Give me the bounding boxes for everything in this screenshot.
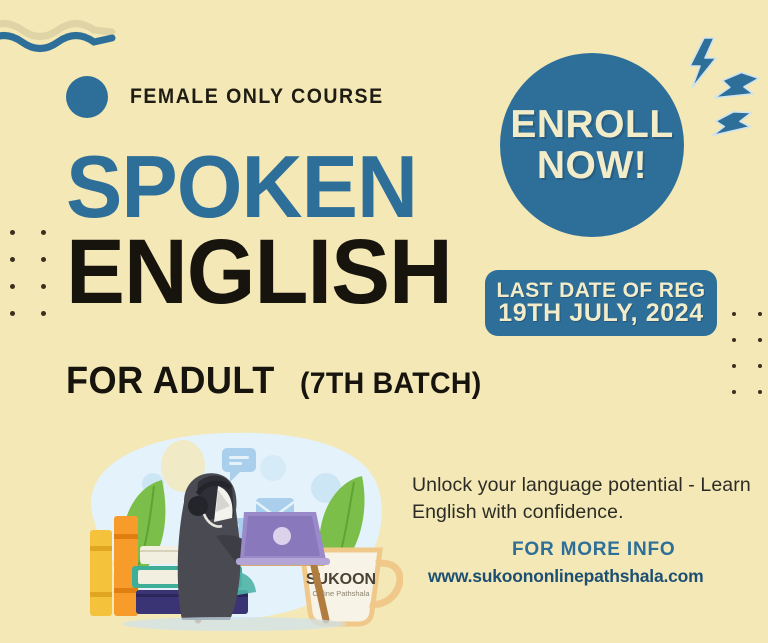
grid-dot — [758, 312, 762, 316]
grid-dot — [10, 311, 15, 316]
grid-dot — [732, 390, 736, 394]
grid-dot — [758, 390, 762, 394]
grid-dot — [41, 284, 46, 289]
more-info-label: FOR MORE INFO — [512, 539, 675, 561]
enroll-line-2: NOW! — [537, 146, 647, 185]
course-eyebrow: FEMALE ONLY COURSE — [66, 76, 403, 118]
grid-dot — [758, 364, 762, 368]
grid-dot — [732, 312, 736, 316]
grid-dot — [41, 257, 46, 262]
wave-decoration — [0, 16, 134, 62]
title-batch: (7TH BATCH) — [300, 367, 482, 401]
grid-dot — [41, 311, 46, 316]
standing-books — [90, 516, 138, 616]
grid-dot — [10, 230, 15, 235]
title-subline: FOR ADULT (7TH BATCH) — [66, 360, 491, 403]
title-audience: FOR ADULT — [66, 360, 275, 403]
grid-dot — [41, 230, 46, 235]
dot-grid-left — [10, 230, 46, 338]
deadline-date: 19TH JULY, 2024 — [498, 301, 703, 327]
headphone-ear — [188, 496, 208, 516]
tagline-text: Unlock your language potential - Learn E… — [412, 472, 764, 526]
title-line-spoken: SPOKEN — [66, 150, 452, 225]
website-link[interactable]: www.sukoononlinepathshala.com — [428, 566, 704, 587]
grid-dot — [10, 257, 15, 262]
page-title: SPOKEN ENGLISH — [66, 150, 468, 311]
course-eyebrow-label: FEMALE ONLY COURSE — [130, 85, 384, 109]
title-line-english: ENGLISH — [66, 233, 452, 311]
grid-dot — [758, 338, 762, 342]
grid-dot — [10, 284, 15, 289]
grid-dot — [732, 364, 736, 368]
enroll-line-1: ENROLL — [510, 105, 673, 144]
bullet-circle-icon — [66, 76, 108, 118]
registration-deadline-badge: LAST DATE OF REG 19TH JULY, 2024 — [487, 272, 715, 334]
enroll-now-button[interactable]: ENROLL NOW! — [500, 53, 684, 237]
poster-canvas: FEMALE ONLY COURSE SPOKEN ENGLISH FOR AD… — [0, 0, 768, 643]
dot-grid-right — [732, 312, 762, 416]
deadline-label: LAST DATE OF REG — [496, 280, 705, 301]
lightning-bolt-icon — [678, 36, 768, 136]
laptop — [236, 512, 330, 565]
student-illustration: SUKOON Online Pathshala — [58, 424, 403, 639]
grid-dot — [732, 338, 736, 342]
